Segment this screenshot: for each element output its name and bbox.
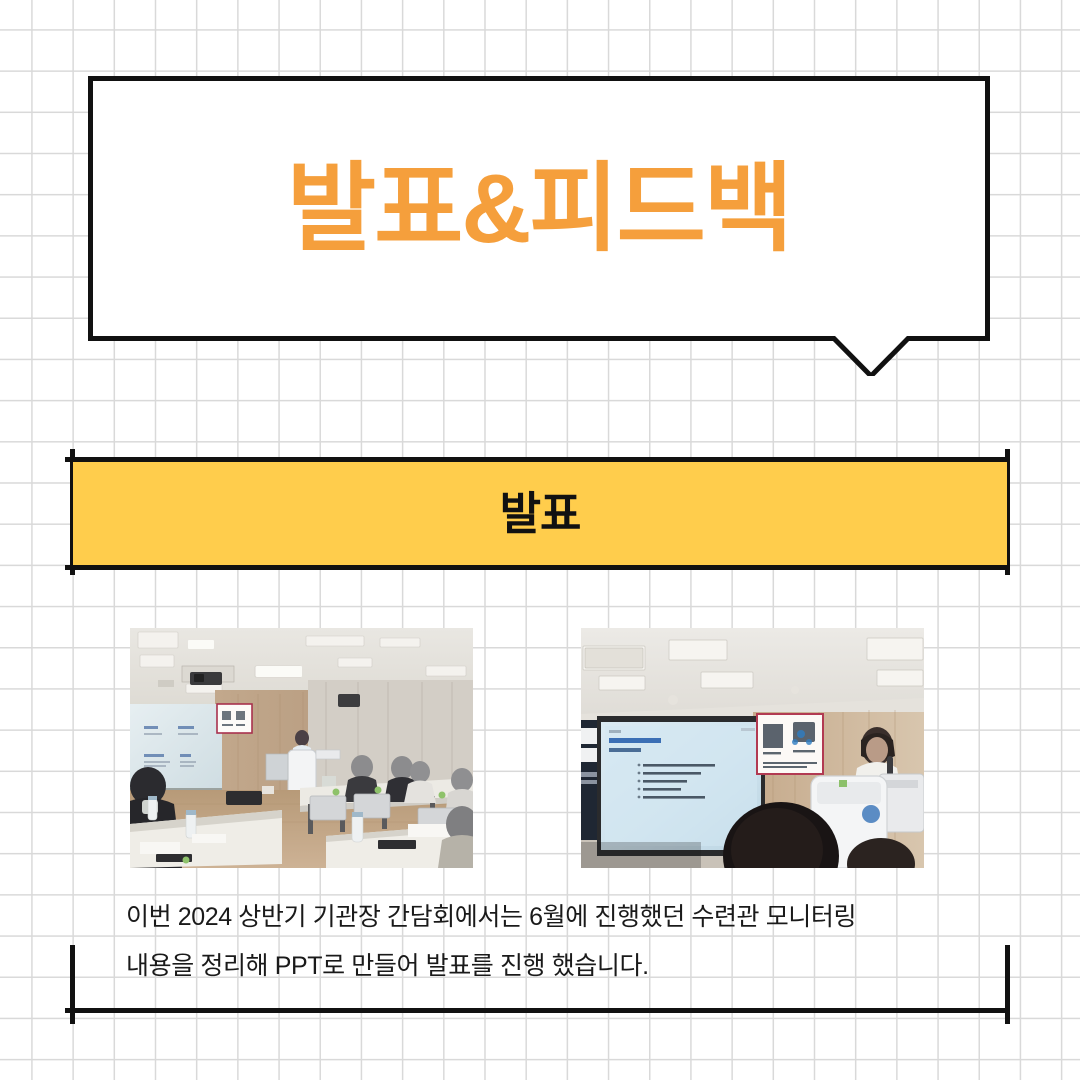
slide-card: 발표&피드백 발표	[0, 0, 1080, 1080]
photo-conference-room-wide	[130, 628, 473, 868]
section-banner-label: 발표	[500, 491, 581, 536]
photo-left-graphic	[130, 628, 473, 868]
frame-bracket-bottom-left	[70, 945, 75, 1024]
caption-line-1: 이번 2024 상반기 기관장 간담회에서는 6월에 진행했던 수련관 모니터링	[126, 893, 926, 942]
photo-presentation-slide-closeup	[581, 628, 924, 868]
frame-bracket-bottom-right	[1005, 945, 1010, 1024]
section-caption: 이번 2024 상반기 기관장 간담회에서는 6월에 진행했던 수련관 모니터링…	[126, 893, 926, 991]
frame-rule-bottom	[65, 1008, 1010, 1013]
frame-rule-middle	[65, 565, 1010, 570]
caption-line-2: 내용을 정리해 PPT로 만들어 발표를 진행 했습니다.	[126, 942, 926, 991]
section-banner: 발표	[73, 462, 1007, 565]
photo-right-graphic	[581, 628, 924, 868]
